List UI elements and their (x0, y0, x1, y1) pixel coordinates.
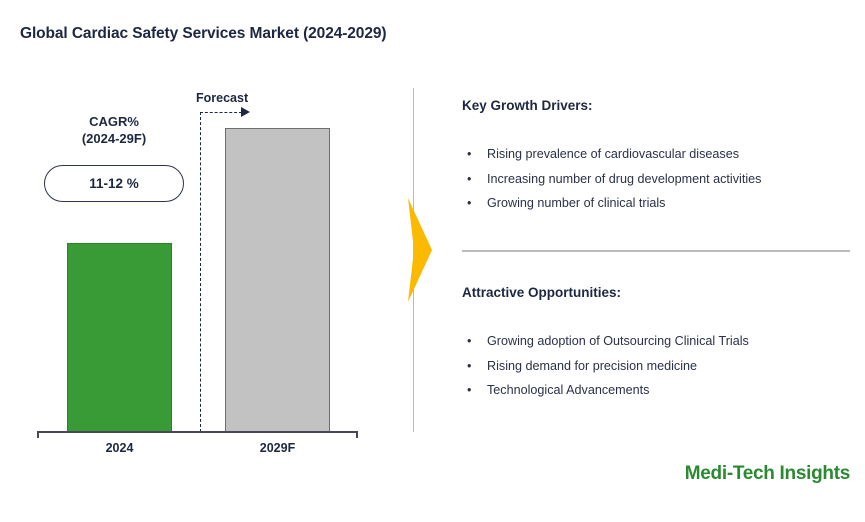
flow-arrow-icon (406, 198, 432, 302)
attractive-opportunities-heading: Attractive Opportunities: (462, 285, 621, 300)
list-item-label: Growing number of clinical trials (487, 196, 665, 210)
list-item: • Increasing number of drug development … (462, 167, 761, 192)
forecast-label: Forecast (196, 91, 248, 105)
brand-logo: Medi-Tech Insights (685, 463, 850, 485)
bullet-icon: • (467, 354, 471, 379)
key-growth-drivers-heading: Key Growth Drivers: (462, 98, 593, 113)
bar-2029f (225, 128, 330, 432)
bullet-icon: • (467, 191, 471, 216)
cagr-label-line1: CAGR% (89, 114, 139, 129)
key-growth-drivers-list: • Rising prevalence of cardiovascular di… (462, 142, 761, 216)
forecast-arrow-head-icon (241, 107, 250, 117)
list-item: • Rising prevalence of cardiovascular di… (462, 142, 761, 167)
bullet-icon: • (467, 167, 471, 192)
list-item: • Technological Advancements (462, 378, 749, 403)
cagr-label-line2: (2024-29F) (44, 130, 184, 147)
list-item: • Growing adoption of Outsourcing Clinic… (462, 329, 749, 354)
cagr-label: CAGR% (2024-29F) (44, 113, 184, 147)
forecast-arrow-line (200, 112, 242, 113)
cagr-value-badge: 11-12 % (44, 165, 184, 202)
forecast-divider-line (200, 112, 201, 432)
bullet-icon: • (467, 329, 471, 354)
bullet-icon: • (467, 378, 471, 403)
bar-2024 (67, 243, 172, 432)
list-item-label: Technological Advancements (487, 383, 649, 397)
list-item-label: Growing adoption of Outsourcing Clinical… (487, 334, 749, 348)
list-item: • Growing number of clinical trials (462, 191, 761, 216)
x-axis-tick-left (37, 431, 39, 438)
bullet-icon: • (467, 142, 471, 167)
x-tick-label-2024: 2024 (67, 441, 172, 455)
list-item: • Rising demand for precision medicine (462, 354, 749, 379)
x-axis-tick-right (356, 431, 358, 438)
x-tick-label-2029f: 2029F (225, 441, 330, 455)
list-item-label: Increasing number of drug development ac… (487, 172, 761, 186)
section-divider (462, 250, 850, 252)
list-item-label: Rising demand for precision medicine (487, 359, 697, 373)
cagr-value-text: 11-12 % (89, 176, 139, 191)
bar-chart-panel: CAGR% (2024-29F) 11-12 % Forecast 2024 2… (0, 0, 400, 522)
attractive-opportunities-list: • Growing adoption of Outsourcing Clinic… (462, 329, 749, 403)
list-item-label: Rising prevalence of cardiovascular dise… (487, 147, 739, 161)
insights-panel: Key Growth Drivers: • Rising prevalence … (462, 0, 865, 522)
x-axis-line (37, 431, 358, 433)
